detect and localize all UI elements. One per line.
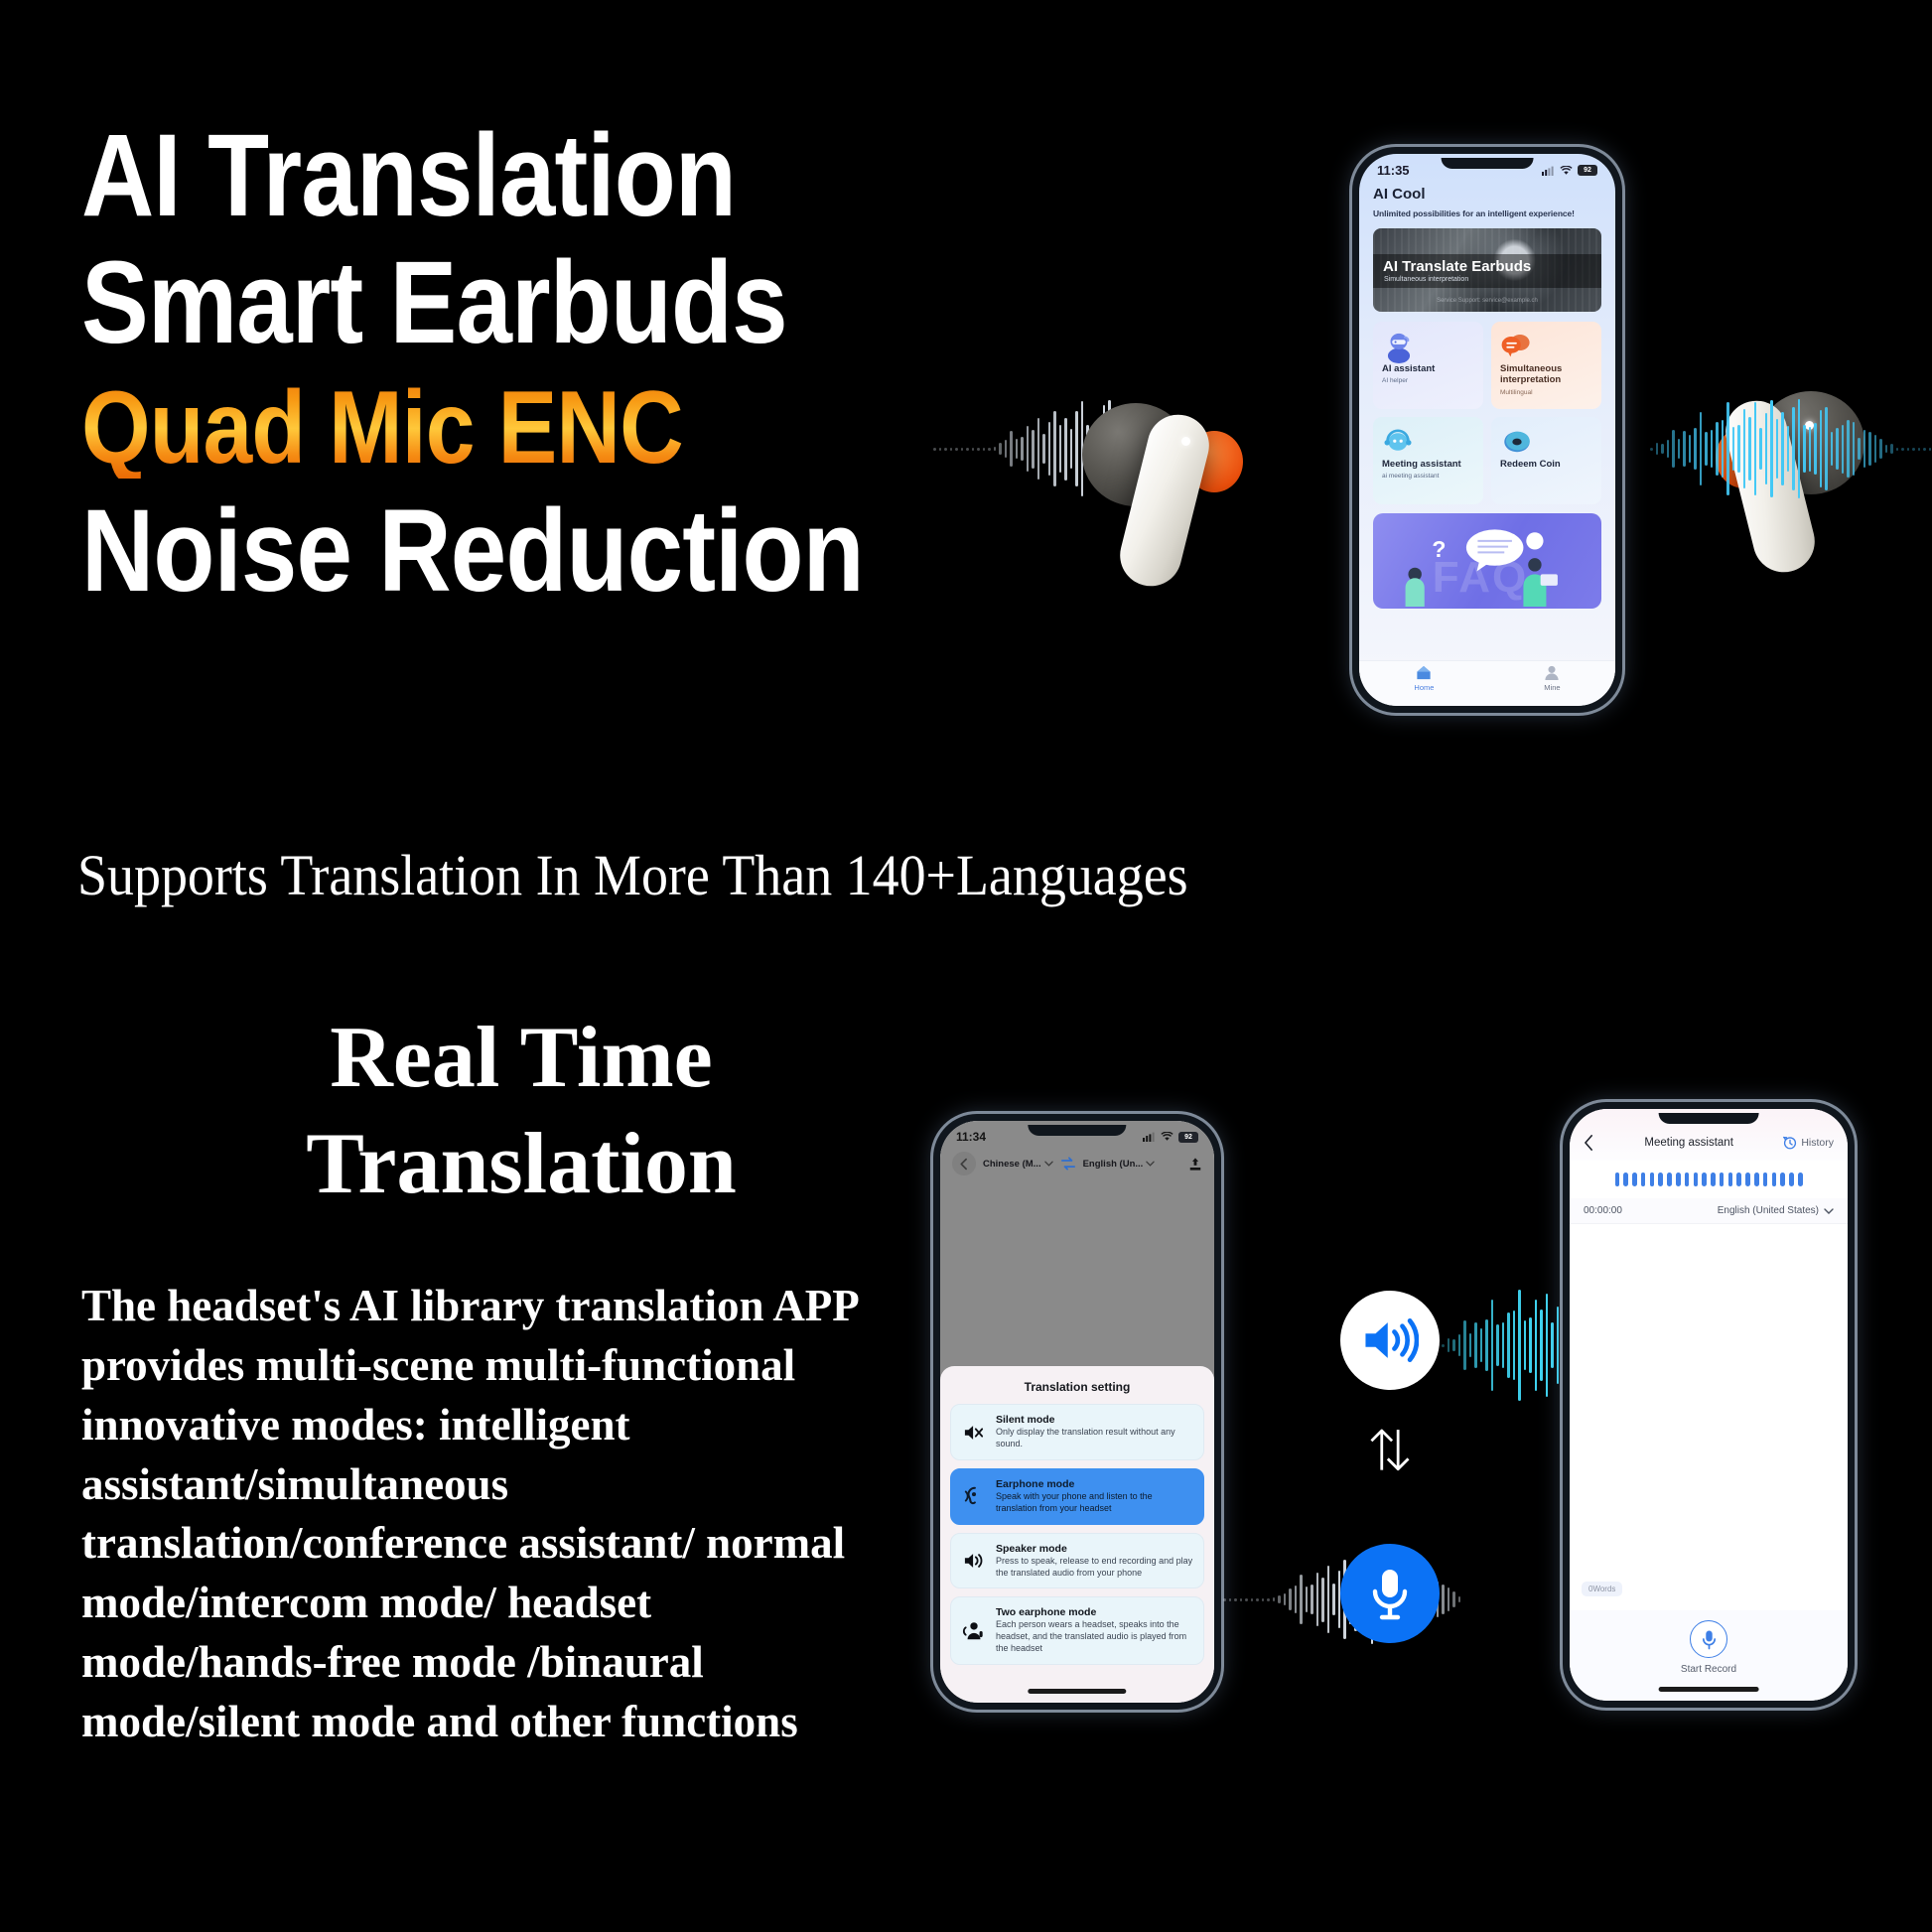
card-title: Meeting assistant <box>1382 459 1474 470</box>
waveform-bar <box>1491 1300 1494 1391</box>
phone-notch <box>1028 1125 1126 1136</box>
meeting-language-label: English (United States) <box>1718 1205 1819 1216</box>
mode-description: Each person wears a headset, speaks into… <box>996 1619 1193 1655</box>
earbud-left <box>1074 369 1312 647</box>
earbud-right-led-icon <box>1805 421 1814 430</box>
banner-service-line: Service Support: service@example.ch <box>1437 298 1538 304</box>
waveform-bar <box>1529 1317 1532 1374</box>
translation-setting-panel: Translation setting Silent mode Only dis… <box>940 1366 1214 1703</box>
home-icon <box>1416 665 1432 680</box>
hero-line-4: Noise Reduction <box>81 494 961 608</box>
phone-translation-mockup: 11:34 92 <box>933 1114 1221 1710</box>
phone-notch <box>1442 158 1534 169</box>
waveform-bar <box>1789 1173 1794 1186</box>
card-simultaneous-interpretation[interactable]: Simultaneous interpretation Multilingual <box>1491 322 1601 409</box>
waveform-bar <box>1650 448 1653 451</box>
bottom-tab-bar: Home Mine <box>1359 660 1615 706</box>
card-title: Simultaneous interpretation <box>1500 363 1592 386</box>
waveform-bar <box>1278 1595 1281 1602</box>
waveform-bar <box>1540 1310 1543 1381</box>
waveform-bar <box>1442 1585 1445 1614</box>
waveform-bar <box>1245 1598 1248 1601</box>
mute-speaker-icon <box>961 1423 987 1443</box>
waveform-bar <box>1240 1598 1243 1601</box>
waveform-bar <box>1763 1173 1768 1186</box>
battery-icon: 92 <box>1178 1132 1198 1143</box>
waveform-bar <box>1251 1598 1254 1601</box>
microphone-icon <box>1701 1629 1718 1650</box>
waveform-bar <box>1469 1333 1472 1357</box>
mode-earphone[interactable]: Earphone mode Speak with your phone and … <box>950 1468 1204 1525</box>
waveform-bar <box>1321 1578 1324 1622</box>
waveform-bar <box>1448 1587 1450 1611</box>
waveform-bar <box>1256 1598 1259 1601</box>
waveform-bar <box>1452 1591 1455 1607</box>
waveform-bar <box>1736 1173 1741 1186</box>
waveform-bar <box>1485 1319 1488 1371</box>
hero-line-1: AI Translation <box>81 119 961 232</box>
hero-banner-card[interactable]: AI Translate Earbuds Simultaneous interp… <box>1373 228 1601 312</box>
meeting-language-select[interactable]: English (United States) <box>1718 1205 1834 1216</box>
headset-robot-icon <box>1382 425 1474 459</box>
section-title-real-time: Real Time Translation <box>213 1005 829 1218</box>
waveform-bar <box>1661 444 1664 454</box>
waveform-bar <box>1672 430 1675 469</box>
tab-home-label: Home <box>1414 683 1434 692</box>
waveform-bar <box>1442 1344 1445 1347</box>
tab-home[interactable]: Home <box>1414 665 1434 692</box>
mode-two-earphone[interactable]: Two earphone mode Each person wears a he… <box>950 1596 1204 1665</box>
waveform-bar <box>1798 1173 1803 1186</box>
mode-description: Press to speak, release to end recording… <box>996 1556 1193 1580</box>
waveform-bar <box>1623 1173 1628 1186</box>
waveform-bar <box>1728 1173 1733 1186</box>
cellular-icon <box>1542 166 1555 176</box>
faq-banner[interactable]: FAQ ? <box>1373 513 1601 609</box>
app-title: AI Cool <box>1373 186 1601 203</box>
source-language-select[interactable]: Chinese (M... <box>983 1159 1053 1170</box>
waveform-bar <box>1229 1598 1232 1601</box>
feature-card-grid: AI assistant AI helper Simult <box>1373 322 1601 504</box>
waveform-bar <box>1458 1596 1461 1601</box>
banner-title: AI Translate Earbuds <box>1383 258 1531 275</box>
chevron-left-icon[interactable] <box>1584 1135 1594 1151</box>
waveform-bar <box>1463 1320 1466 1369</box>
word-count-badge: 0Words <box>1582 1582 1622 1596</box>
language-toolbar: Chinese (M... English (Un... <box>940 1144 1214 1175</box>
card-subtitle: AI helper <box>1382 377 1474 384</box>
waveform-bar <box>1685 1173 1690 1186</box>
waveform-bar <box>1234 1598 1237 1601</box>
card-subtitle: Multilingual <box>1500 389 1592 396</box>
card-subtitle: ai meeting assistant <box>1382 473 1474 480</box>
waveform-bar <box>1632 1173 1637 1186</box>
earbud-right <box>1688 365 1926 643</box>
cellular-icon <box>1143 1132 1156 1142</box>
phone-notch <box>1659 1113 1759 1124</box>
recording-waveform <box>1570 1161 1848 1198</box>
mode-title: Earphone mode <box>996 1478 1193 1490</box>
two-people-mic-icon <box>961 1620 987 1642</box>
banner-subtitle: Simultaneous interpretation <box>1384 276 1468 283</box>
mode-title: Silent mode <box>996 1414 1193 1426</box>
svg-text:?: ? <box>1432 536 1446 562</box>
start-record-label: Start Record <box>1681 1664 1736 1675</box>
section-body-copy: The headset's AI library translation APP… <box>81 1277 886 1752</box>
waveform-bar <box>1929 448 1932 451</box>
waveform-bar <box>1513 1311 1516 1380</box>
card-redeem-coin[interactable]: Redeem Coin <box>1491 417 1601 504</box>
waveform-bar <box>1452 1339 1455 1352</box>
export-icon[interactable] <box>1188 1157 1202 1172</box>
speaker-fab-button[interactable] <box>1340 1291 1440 1390</box>
waveform-bar <box>1678 439 1681 458</box>
card-meeting-assistant[interactable]: Meeting assistant ai meeting assistant <box>1373 417 1483 504</box>
waveform-bar <box>1656 443 1659 454</box>
speech-bubbles-icon <box>1500 330 1592 363</box>
swap-languages-icon[interactable] <box>1060 1157 1076 1171</box>
mic-fab-button[interactable] <box>1340 1544 1440 1643</box>
waveform-bar <box>1667 440 1670 457</box>
card-title: AI assistant <box>1382 363 1474 374</box>
waveform-bar <box>1474 1322 1477 1367</box>
waveform-bar <box>1694 1173 1699 1186</box>
mode-silent[interactable]: Silent mode Only display the translation… <box>950 1404 1204 1460</box>
mode-description: Speak with your phone and listen to the … <box>996 1491 1193 1515</box>
waveform-bar <box>1284 1593 1287 1605</box>
speaker-wave-icon <box>1361 1314 1419 1366</box>
waveform-bar <box>1311 1585 1313 1615</box>
waveform-bar <box>1480 1328 1483 1362</box>
history-button[interactable]: History <box>1783 1136 1834 1150</box>
waveform-bar <box>1496 1324 1499 1366</box>
waveform-bar <box>1772 1173 1777 1186</box>
hero-heading-block: AI Translation Smart Earbuds Quad Mic EN… <box>81 119 1104 608</box>
mode-description: Only display the translation result with… <box>996 1427 1193 1450</box>
ear-listen-icon <box>961 1485 987 1507</box>
waveform-bar <box>1524 1320 1527 1371</box>
ai-avatar-icon <box>1382 330 1474 363</box>
waveform-bar <box>1289 1588 1292 1610</box>
waveform-bar <box>1306 1587 1309 1611</box>
history-label: History <box>1801 1137 1834 1149</box>
waveform-bar <box>1667 1173 1672 1186</box>
chevron-down-icon <box>1146 1161 1155 1167</box>
waveform-bar <box>1507 1312 1510 1378</box>
waveform-bar <box>1535 1300 1538 1392</box>
tab-mine[interactable]: Mine <box>1544 665 1560 692</box>
battery-icon: 92 <box>1578 165 1597 176</box>
card-ai-assistant[interactable]: AI assistant AI helper <box>1373 322 1483 409</box>
waveform-bar <box>1262 1598 1265 1601</box>
speaker-icon <box>961 1551 987 1571</box>
earbud-left-led-icon <box>1181 437 1190 446</box>
wifi-icon <box>1161 1132 1173 1142</box>
back-button[interactable] <box>952 1152 976 1175</box>
waveform-bar <box>1641 1173 1646 1186</box>
status-time: 11:35 <box>1377 163 1410 178</box>
waveform-bar <box>1316 1573 1319 1626</box>
recording-timer: 00:00:00 <box>1584 1205 1622 1216</box>
app-tagline: Unlimited possibilities for an intellige… <box>1373 208 1601 218</box>
waveform-bar <box>1615 1173 1620 1186</box>
waveform-bar <box>1557 1307 1560 1383</box>
waveform-bar <box>1650 1173 1655 1186</box>
waveform-bar <box>1458 1334 1461 1356</box>
wifi-icon <box>1560 166 1573 176</box>
waveform-bar <box>1518 1290 1521 1401</box>
faq-illustration: ? <box>1373 513 1601 609</box>
waveform-bar <box>1658 1173 1663 1186</box>
mode-title: Speaker mode <box>996 1543 1193 1555</box>
panel-title: Translation setting <box>950 1376 1204 1404</box>
waveform-bar <box>1267 1598 1270 1601</box>
waveform-bar <box>1702 1173 1707 1186</box>
waveform-bar <box>1273 1597 1276 1601</box>
waveform-bar <box>1502 1322 1505 1368</box>
waveform-bar <box>1327 1566 1330 1634</box>
waveform-bar <box>1546 1294 1549 1397</box>
clock-history-icon <box>1783 1136 1797 1150</box>
card-title: Redeem Coin <box>1500 459 1592 470</box>
meeting-title: Meeting assistant <box>1644 1137 1733 1149</box>
hero-subline: Supports Translation In More Than 140+La… <box>77 842 1188 908</box>
chevron-down-icon <box>1824 1208 1834 1214</box>
meeting-meta-row: 00:00:00 English (United States) <box>1570 1198 1848 1223</box>
mode-speaker[interactable]: Speaker mode Press to speak, release to … <box>950 1533 1204 1589</box>
waveform-bar <box>1223 1598 1226 1601</box>
person-icon <box>1544 665 1560 680</box>
home-indicator <box>1659 1687 1759 1692</box>
mode-title: Two earphone mode <box>996 1606 1193 1618</box>
waveform-bar <box>1745 1173 1750 1186</box>
waveform-bar <box>1676 1173 1681 1186</box>
waveform-bar <box>1448 1338 1450 1352</box>
waveform-bar <box>1754 1173 1759 1186</box>
target-language-select[interactable]: English (Un... <box>1083 1159 1156 1170</box>
waveform-bar <box>1332 1584 1335 1616</box>
hero-line-3-accent: Quad Mic ENC <box>81 378 961 479</box>
start-record-button[interactable] <box>1690 1620 1727 1658</box>
waveform-bar <box>1683 431 1686 467</box>
phone-meeting-mockup: Meeting assistant History 00:00:00 Engli… <box>1563 1102 1855 1708</box>
waveform-bar <box>1551 1322 1554 1369</box>
coin-ring-icon <box>1500 425 1592 459</box>
tab-mine-label: Mine <box>1544 683 1560 692</box>
waveform-bar <box>1711 1173 1716 1186</box>
chevron-down-icon <box>1044 1161 1053 1167</box>
source-language-label: Chinese (M... <box>983 1159 1041 1170</box>
hero-line-2: Smart Earbuds <box>81 246 961 359</box>
target-language-label: English (Un... <box>1083 1159 1144 1170</box>
arrow-left-icon <box>958 1158 971 1171</box>
phone-home-mockup: 11:35 92 AI Cool Unlimited possi <box>1352 147 1622 713</box>
waveform-bar <box>1300 1575 1303 1624</box>
up-down-arrows-icon: ⇅ <box>1366 1422 1414 1485</box>
microphone-icon <box>1365 1566 1415 1621</box>
waveform-bar <box>1720 1173 1725 1186</box>
transcript-area: 0Words <box>1570 1223 1848 1610</box>
waveform-bar <box>1780 1173 1785 1186</box>
waveform-bar <box>1295 1586 1298 1612</box>
home-indicator <box>1028 1689 1126 1694</box>
status-time: 11:34 <box>956 1130 986 1144</box>
